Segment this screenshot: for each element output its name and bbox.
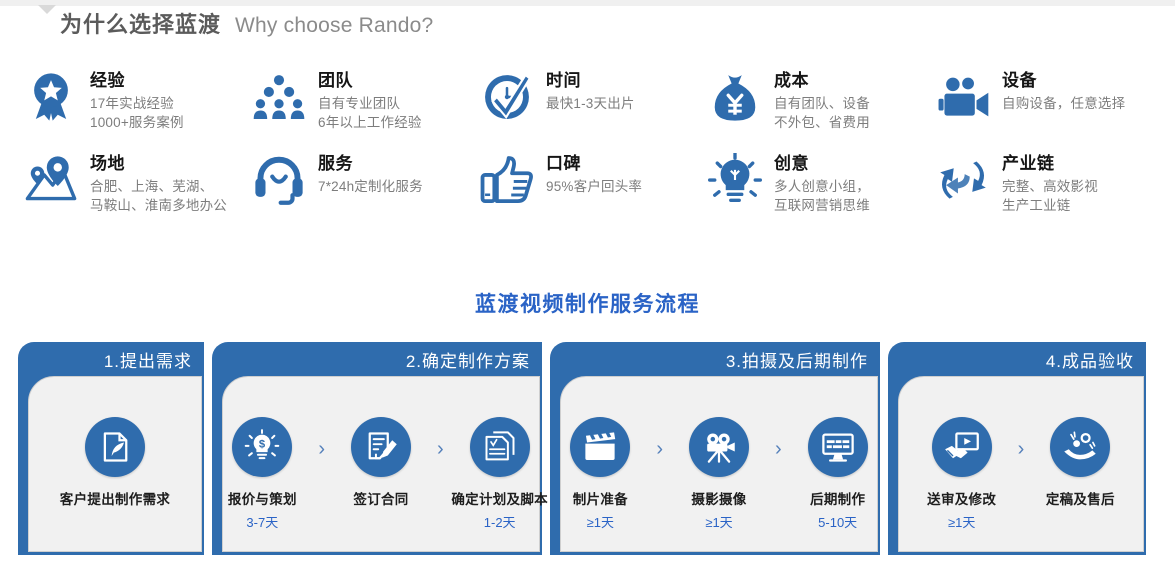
step-arrow-icon: › xyxy=(775,439,782,459)
process-step[interactable]: 送审及修改≥1天 xyxy=(912,417,1012,531)
step-label: 客户提出制作需求 xyxy=(60,488,170,508)
step-arrow-icon: › xyxy=(656,439,663,459)
feature-item-成本: 成本自有团队、设备 不外包、省费用 xyxy=(706,68,934,133)
feature-text: 经验17年实战经验 1000+服务案例 xyxy=(90,68,184,133)
step-list: 客户提出制作需求 xyxy=(65,417,165,512)
feature-desc: 自有团队、设备 不外包、省费用 xyxy=(774,94,870,132)
video-camera-icon xyxy=(934,68,992,126)
feature-desc: 17年实战经验 1000+服务案例 xyxy=(90,94,184,132)
process-section-title: 蓝渡视频制作服务流程 xyxy=(0,288,1175,318)
feature-text: 口碑95%客户回头率 xyxy=(546,151,642,196)
process-step[interactable]: 定稿及售后 xyxy=(1030,417,1130,512)
feature-title: 产业链 xyxy=(1002,153,1098,174)
feature-desc: 合肥、上海、芜湖、 马鞍山、淮南多地办公 xyxy=(90,177,227,215)
feature-item-服务: 服务7*24h定制化服务 xyxy=(250,151,478,216)
hand-coins-icon xyxy=(1050,417,1110,477)
feature-title: 口碑 xyxy=(546,153,642,174)
feature-item-设备: 设备自购设备，任意选择 xyxy=(934,68,1162,133)
card-body: 送审及修改≥1天›定稿及售后 xyxy=(898,376,1144,552)
svg-text:$: $ xyxy=(259,439,266,451)
feature-title: 场地 xyxy=(90,153,227,174)
card-heading: 1.提出需求 xyxy=(18,342,204,376)
feature-desc: 7*24h定制化服务 xyxy=(318,177,423,196)
card-body: 客户提出制作需求 xyxy=(28,376,202,552)
feature-text: 时间最快1-3天出片 xyxy=(546,68,635,113)
feature-desc: 95%客户回头率 xyxy=(546,177,642,196)
thumbs-up-icon xyxy=(478,151,536,209)
step-arrow-icon: › xyxy=(437,439,444,459)
step-label: 报价与策划 xyxy=(228,488,297,508)
feature-item-经验: 经验17年实战经验 1000+服务案例 xyxy=(22,68,250,133)
step-label: 定稿及售后 xyxy=(1046,488,1115,508)
feature-title: 服务 xyxy=(318,153,423,174)
step-list: 送审及修改≥1天›定稿及售后 xyxy=(912,417,1131,531)
step-duration: 1-2天 xyxy=(484,512,516,531)
feature-item-口碑: 口碑95%客户回头率 xyxy=(478,151,706,216)
feature-grid: 经验17年实战经验 1000+服务案例团队自有专业团队 6年以上工作经验时间最快… xyxy=(22,68,1162,215)
feature-text: 场地合肥、上海、芜湖、 马鞍山、淮南多地办公 xyxy=(90,151,227,216)
contract-sign-icon xyxy=(351,417,411,477)
feature-title: 创意 xyxy=(774,153,870,174)
script-document-icon xyxy=(470,417,530,477)
step-label: 制片准备 xyxy=(573,488,628,508)
process-step[interactable]: 后期制作5-10天 xyxy=(788,417,888,531)
process-card-2[interactable]: 2.确定制作方案$报价与策划3-7天›签订合同›确定计划及脚本1-2天 xyxy=(212,342,542,555)
feature-desc: 完整、高效影视 生产工业链 xyxy=(1002,177,1098,215)
step-arrow-icon: › xyxy=(318,439,325,459)
step-label: 摄影摄像 xyxy=(691,488,746,508)
feature-item-团队: 团队自有专业团队 6年以上工作经验 xyxy=(250,68,478,133)
handshake-screen-icon xyxy=(932,417,992,477)
feature-text: 产业链完整、高效影视 生产工业链 xyxy=(1002,151,1098,216)
card-body: 制片准备≥1天›摄影摄像≥1天›后期制作5-10天 xyxy=(560,376,878,552)
map-pin-location-icon xyxy=(22,151,80,209)
step-list: $报价与策划3-7天›签订合同›确定计划及脚本1-2天 xyxy=(212,417,549,531)
process-step[interactable]: 客户提出制作需求 xyxy=(65,417,165,512)
step-duration: ≥1天 xyxy=(587,512,614,531)
clock-check-icon xyxy=(478,68,536,126)
step-duration: ≥1天 xyxy=(705,512,732,531)
document-pen-icon xyxy=(85,417,145,477)
process-step[interactable]: 制片准备≥1天 xyxy=(550,417,650,531)
step-label: 确定计划及脚本 xyxy=(451,488,548,508)
recycle-arrows-icon xyxy=(934,151,992,209)
card-heading: 3.拍摄及后期制作 xyxy=(550,342,880,376)
process-step[interactable]: $报价与策划3-7天 xyxy=(212,417,312,531)
money-bag-yuan-icon xyxy=(706,68,764,126)
feature-desc: 自购设备，任意选择 xyxy=(1002,94,1125,113)
feature-text: 团队自有专业团队 6年以上工作经验 xyxy=(318,68,422,133)
page-title-en: Why choose Rando? xyxy=(235,14,433,38)
feature-desc: 多人创意小组， 互联网营销思维 xyxy=(774,177,870,215)
step-label: 后期制作 xyxy=(810,488,865,508)
clapperboard-icon xyxy=(570,417,630,477)
movie-camera-icon xyxy=(689,417,749,477)
feature-item-创意: 创意多人创意小组， 互联网营销思维 xyxy=(706,151,934,216)
step-arrow-icon: › xyxy=(1018,439,1025,459)
feature-title: 设备 xyxy=(1002,70,1125,91)
step-duration: 3-7天 xyxy=(246,512,278,531)
step-label: 送审及修改 xyxy=(927,488,996,508)
process-step[interactable]: 摄影摄像≥1天 xyxy=(669,417,769,531)
feature-item-场地: 场地合肥、上海、芜湖、 马鞍山、淮南多地办公 xyxy=(22,151,250,216)
feature-text: 设备自购设备，任意选择 xyxy=(1002,68,1125,113)
step-duration: ≥1天 xyxy=(948,512,975,531)
feature-desc: 自有专业团队 6年以上工作经验 xyxy=(318,94,422,132)
process-cards: 1.提出需求客户提出制作需求2.确定制作方案$报价与策划3-7天›签订合同›确定… xyxy=(18,342,1170,555)
process-step[interactable]: 确定计划及脚本1-2天 xyxy=(450,417,550,531)
card-heading: 4.成品验收 xyxy=(888,342,1146,376)
card-body: $报价与策划3-7天›签订合同›确定计划及脚本1-2天 xyxy=(222,376,540,552)
feature-item-时间: 时间最快1-3天出片 xyxy=(478,68,706,133)
page-title: 为什么选择蓝渡 Why choose Rando? xyxy=(60,7,433,39)
feature-text: 服务7*24h定制化服务 xyxy=(318,151,423,196)
feature-title: 团队 xyxy=(318,70,422,91)
feature-item-产业链: 产业链完整、高效影视 生产工业链 xyxy=(934,151,1162,216)
team-people-icon xyxy=(250,68,308,126)
step-label: 签订合同 xyxy=(353,488,408,508)
page-title-cn: 为什么选择蓝渡 xyxy=(60,7,221,39)
top-accent-bar xyxy=(0,0,1175,6)
feature-title: 经验 xyxy=(90,70,184,91)
step-list: 制片准备≥1天›摄影摄像≥1天›后期制作5-10天 xyxy=(550,417,887,531)
process-step[interactable]: 签订合同 xyxy=(331,417,431,512)
process-card-1[interactable]: 1.提出需求客户提出制作需求 xyxy=(18,342,204,555)
process-card-4[interactable]: 4.成品验收送审及修改≥1天›定稿及售后 xyxy=(888,342,1146,555)
feature-title: 成本 xyxy=(774,70,870,91)
feature-desc: 最快1-3天出片 xyxy=(546,94,635,113)
feature-text: 创意多人创意小组， 互联网营销思维 xyxy=(774,151,870,216)
headset-support-icon xyxy=(250,151,308,209)
medal-star-icon xyxy=(22,68,80,126)
card-heading: 2.确定制作方案 xyxy=(212,342,542,376)
monitor-edit-icon xyxy=(808,417,868,477)
bulb-dollar-icon: $ xyxy=(232,417,292,477)
feature-title: 时间 xyxy=(546,70,635,91)
lightbulb-idea-icon xyxy=(706,151,764,209)
process-card-3[interactable]: 3.拍摄及后期制作制片准备≥1天›摄影摄像≥1天›后期制作5-10天 xyxy=(550,342,880,555)
feature-text: 成本自有团队、设备 不外包、省费用 xyxy=(774,68,870,133)
step-duration: 5-10天 xyxy=(818,512,857,531)
